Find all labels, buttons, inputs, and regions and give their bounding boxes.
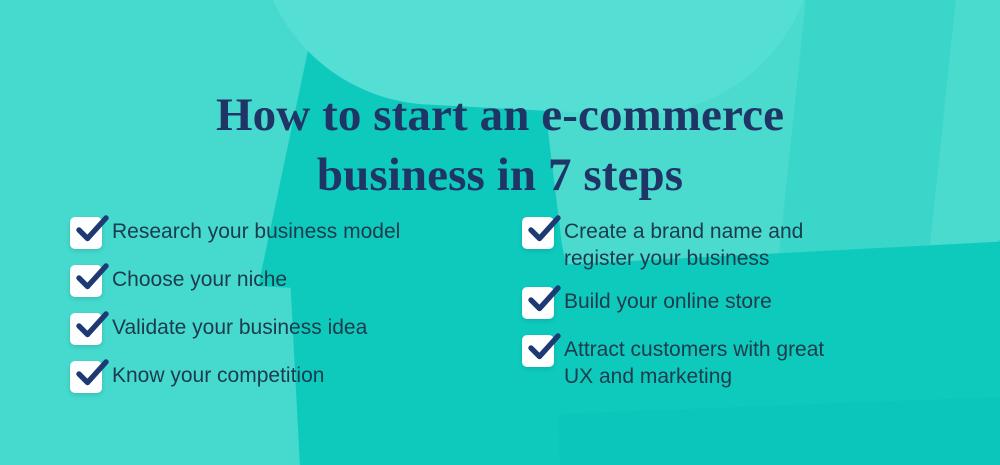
list-item: Research your business model xyxy=(70,216,500,250)
check-mark-icon xyxy=(72,354,112,394)
list-item-label: Attract customers with great UX and mark… xyxy=(564,334,942,390)
checkbox-checked-icon xyxy=(522,335,554,367)
list-item-label-line: Create a brand name and xyxy=(564,218,942,245)
check-mark-icon xyxy=(72,210,112,250)
list-item-label: Choose your niche xyxy=(112,264,500,293)
page-title-line-2: business in 7 steps xyxy=(0,145,1000,205)
list-item-label-line: Attract customers with great xyxy=(564,336,942,363)
list-item-label-line: register your business xyxy=(564,245,942,272)
check-mark-icon xyxy=(72,258,112,298)
checkbox-checked-icon xyxy=(70,361,102,393)
list-item-label-line: Build your online store xyxy=(564,288,942,315)
list-item-label: Know your competition xyxy=(112,360,500,389)
list-item: Choose your niche xyxy=(70,264,500,298)
checklist-left-column: Research your business model Choose your… xyxy=(70,216,500,408)
list-item-label: Validate your business idea xyxy=(112,312,500,341)
checkbox-checked-icon xyxy=(70,313,102,345)
check-mark-icon xyxy=(524,210,564,250)
list-item-label: Research your business model xyxy=(112,216,500,245)
checkbox-checked-icon xyxy=(70,217,102,249)
ecommerce-steps-banner: How to start an e-commerce business in 7… xyxy=(0,0,1000,465)
list-item-label-line: Choose your niche xyxy=(112,266,500,293)
list-item-label-line: Know your competition xyxy=(112,362,500,389)
list-item-label-line: Validate your business idea xyxy=(112,314,500,341)
list-item: Know your competition xyxy=(70,360,500,394)
page-title-line-1: How to start an e-commerce xyxy=(0,85,1000,145)
list-item: Build your online store xyxy=(522,286,942,320)
check-mark-icon xyxy=(72,306,112,346)
checkbox-checked-icon xyxy=(522,217,554,249)
banner-content: How to start an e-commerce business in 7… xyxy=(0,0,1000,465)
list-item: Create a brand name and register your bu… xyxy=(522,216,942,272)
list-item-label-line: Research your business model xyxy=(112,218,500,245)
page-title: How to start an e-commerce business in 7… xyxy=(0,85,1000,205)
checkbox-checked-icon xyxy=(522,287,554,319)
check-mark-icon xyxy=(524,328,564,368)
list-item-label-line: UX and marketing xyxy=(564,363,942,390)
list-item-label: Build your online store xyxy=(564,286,942,315)
check-mark-icon xyxy=(524,280,564,320)
list-item-label: Create a brand name and register your bu… xyxy=(564,216,942,272)
list-item: Validate your business idea xyxy=(70,312,500,346)
list-item: Attract customers with great UX and mark… xyxy=(522,334,942,390)
checkbox-checked-icon xyxy=(70,265,102,297)
checklist-right-column: Create a brand name and register your bu… xyxy=(522,216,942,404)
